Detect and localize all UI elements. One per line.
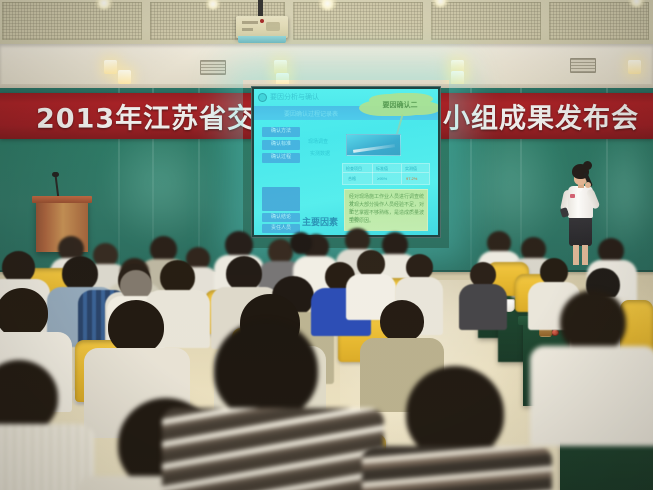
table-header-cell: 实测值 <box>405 166 417 172</box>
soffit-downlight <box>118 70 131 84</box>
presenter-leg <box>573 245 579 265</box>
presenter-leg <box>582 245 588 265</box>
slide-data-table: 检查项目 标准值 实测值 合格 ≥95% 97.2% <box>342 163 430 185</box>
slide-lower-box: 确认结论 <box>262 213 300 222</box>
table-value-cell: 97.2% <box>406 176 417 181</box>
slide-note-text: 现场调查 <box>308 139 328 146</box>
slide-title: 要因分析与确认 <box>270 92 319 102</box>
table-value-cell: 合格 <box>348 176 356 182</box>
conference-hall-photo: 2013年江苏省交 小组成果发布会 要因分析与确认 要因确认过程记录表 要因确认… <box>0 0 653 490</box>
soffit-downlight <box>274 60 287 74</box>
soffit-downlight <box>104 60 117 74</box>
slide-body-text <box>260 167 338 174</box>
slide-lower-box: 责任人员 <box>262 224 300 233</box>
slide-subtitle: 要因确认过程记录表 <box>284 109 338 118</box>
slide-logo-icon <box>258 93 267 102</box>
table-value-cell: ≥95% <box>377 176 387 181</box>
podium-microphone-head <box>52 172 59 177</box>
presenter <box>556 164 604 268</box>
skirt-button <box>551 329 559 336</box>
slide-note-text: 实测数据 <box>310 151 330 158</box>
slide-lower-box <box>262 187 300 211</box>
slide-left-box: 确认过程 <box>262 153 300 163</box>
presenter-skirt <box>569 216 592 246</box>
ceiling-soffit <box>0 44 653 86</box>
photo-highlight <box>353 144 395 153</box>
soffit-downlight <box>451 71 464 85</box>
projection-screen: 要因分析与确认 要因确认过程记录表 要因确认二 确认方法 确认标准 确认过程 现… <box>251 86 441 238</box>
table-header-cell: 标准值 <box>376 166 388 172</box>
slide-left-box: 确认方法 <box>262 127 300 137</box>
air-vent <box>570 58 596 73</box>
ceiling-projector <box>236 16 288 38</box>
slide-callout-cloud: 要因确认二 <box>369 94 431 116</box>
conclusion-line: 主要原因。 <box>349 218 374 225</box>
air-vent <box>200 60 226 75</box>
banner-text-right: 小组成果发布会 <box>443 97 639 136</box>
slide-left-box: 确认标准 <box>262 140 300 150</box>
presenter-badge <box>570 194 575 198</box>
presenter-hand <box>585 182 591 188</box>
slide-content: 要因分析与确认 要因确认过程记录表 要因确认二 确认方法 确认标准 确认过程 现… <box>254 89 438 235</box>
banner-text-left: 2013年江苏省交 <box>36 97 255 136</box>
slide-conclusion-label: 主要因素 <box>302 215 338 228</box>
ceiling <box>0 0 653 50</box>
slide-photo-inset <box>346 134 401 156</box>
presenter-hair-bun <box>583 161 592 170</box>
soffit-downlight <box>628 60 641 74</box>
projector-lens-housing <box>238 36 286 43</box>
podium-top <box>32 196 92 203</box>
slide-conclusion-box: 经对现场施工作业人员进行调查统计， 发现大部分操作人员经验不足，对新 工艺掌握不… <box>344 189 428 231</box>
table-header-cell: 检查项目 <box>346 166 362 172</box>
slide-callout-text: 要因确认二 <box>369 100 431 110</box>
